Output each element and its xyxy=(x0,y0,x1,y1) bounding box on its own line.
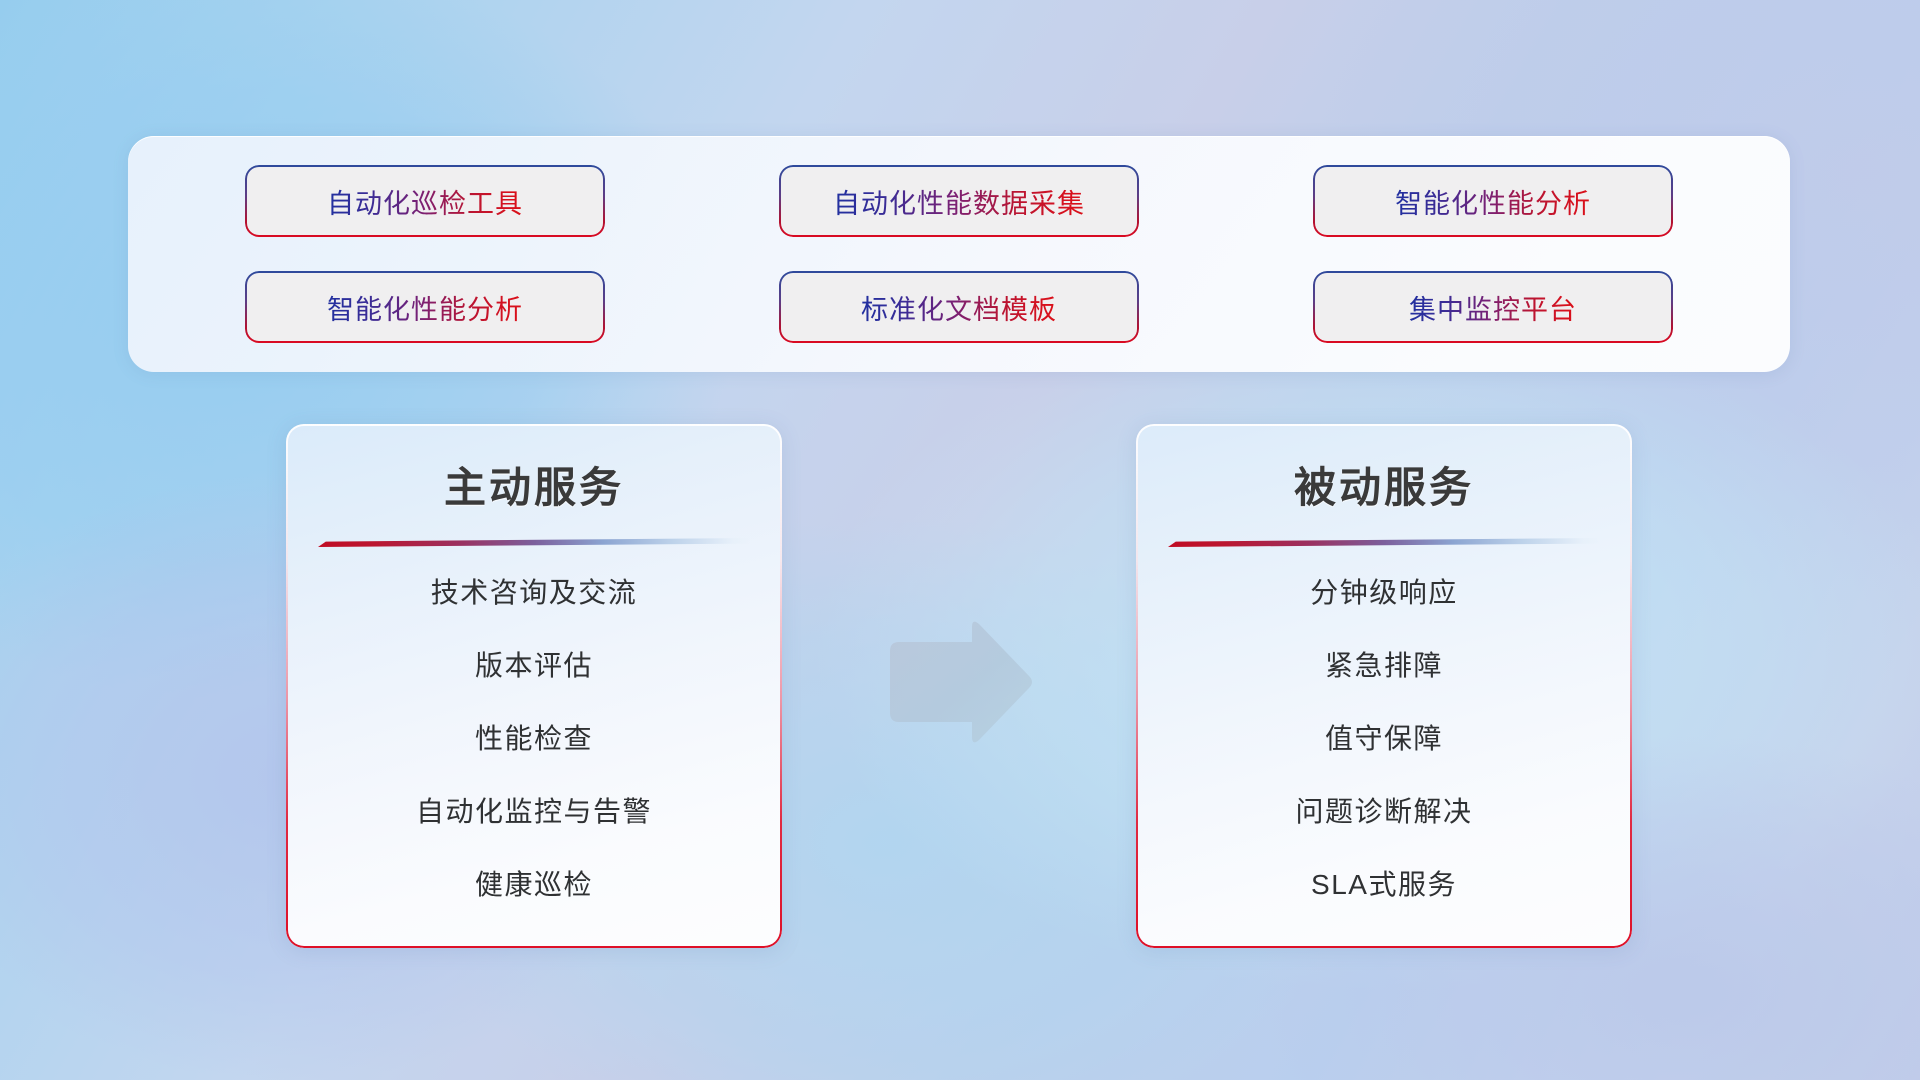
tag-standard-doc-template[interactable]: 标准化文档模板 xyxy=(781,273,1137,341)
tag-label: 智能化性能分析 xyxy=(327,288,523,327)
tag-label: 标准化文档模板 xyxy=(861,288,1057,327)
tag-label: 智能化性能分析 xyxy=(1395,182,1591,221)
list-item[interactable]: 版本评估 xyxy=(286,652,782,680)
tag-label: 集中监控平台 xyxy=(1409,288,1577,327)
list-item[interactable]: 性能检查 xyxy=(286,725,782,753)
tag-label: 自动化性能数据采集 xyxy=(833,182,1085,221)
card-title: 被动服务 xyxy=(1136,424,1632,515)
card-service-list: 分钟级响应 紧急排障 值守保障 问题诊断解决 SLA式服务 xyxy=(1136,547,1632,899)
card-title-divider xyxy=(318,538,750,547)
card-proactive-service[interactable]: 主动服务 技术咨询及交流 版本评估 性能检查 自动化监控与告警 健康巡检 xyxy=(286,424,782,948)
arrow-right-icon xyxy=(878,620,1038,744)
list-item[interactable]: 技术咨询及交流 xyxy=(286,579,782,607)
list-item[interactable]: 紧急排障 xyxy=(1136,652,1632,680)
list-item[interactable]: 分钟级响应 xyxy=(1136,579,1632,607)
list-item[interactable]: SLA式服务 xyxy=(1136,871,1632,899)
list-item[interactable]: 健康巡检 xyxy=(286,871,782,899)
list-item[interactable]: 自动化监控与告警 xyxy=(286,798,782,826)
list-item[interactable]: 问题诊断解决 xyxy=(1136,798,1632,826)
tag-auto-inspection-tool[interactable]: 自动化巡检工具 xyxy=(247,167,603,235)
tag-intelligent-perf-analysis-2[interactable]: 智能化性能分析 xyxy=(247,273,603,341)
card-service-list: 技术咨询及交流 版本评估 性能检查 自动化监控与告警 健康巡检 xyxy=(286,547,782,899)
card-title: 主动服务 xyxy=(286,424,782,515)
capability-tag-panel: 自动化巡检工具 自动化性能数据采集 智能化性能分析 智能化性能分析 标准化文档模… xyxy=(128,136,1790,372)
card-title-divider xyxy=(1168,538,1600,547)
tag-intelligent-perf-analysis[interactable]: 智能化性能分析 xyxy=(1315,167,1671,235)
tag-label: 自动化巡检工具 xyxy=(327,182,523,221)
tag-auto-perf-collection[interactable]: 自动化性能数据采集 xyxy=(781,167,1137,235)
list-item[interactable]: 值守保障 xyxy=(1136,725,1632,753)
slide-canvas: 自动化巡检工具 自动化性能数据采集 智能化性能分析 智能化性能分析 标准化文档模… xyxy=(0,0,1920,1080)
tag-central-monitoring[interactable]: 集中监控平台 xyxy=(1315,273,1671,341)
capability-tag-grid: 自动化巡检工具 自动化性能数据采集 智能化性能分析 智能化性能分析 标准化文档模… xyxy=(128,136,1790,372)
card-reactive-service[interactable]: 被动服务 分钟级响应 紧急排障 值守保障 问题诊断解决 SLA式服务 xyxy=(1136,424,1632,948)
